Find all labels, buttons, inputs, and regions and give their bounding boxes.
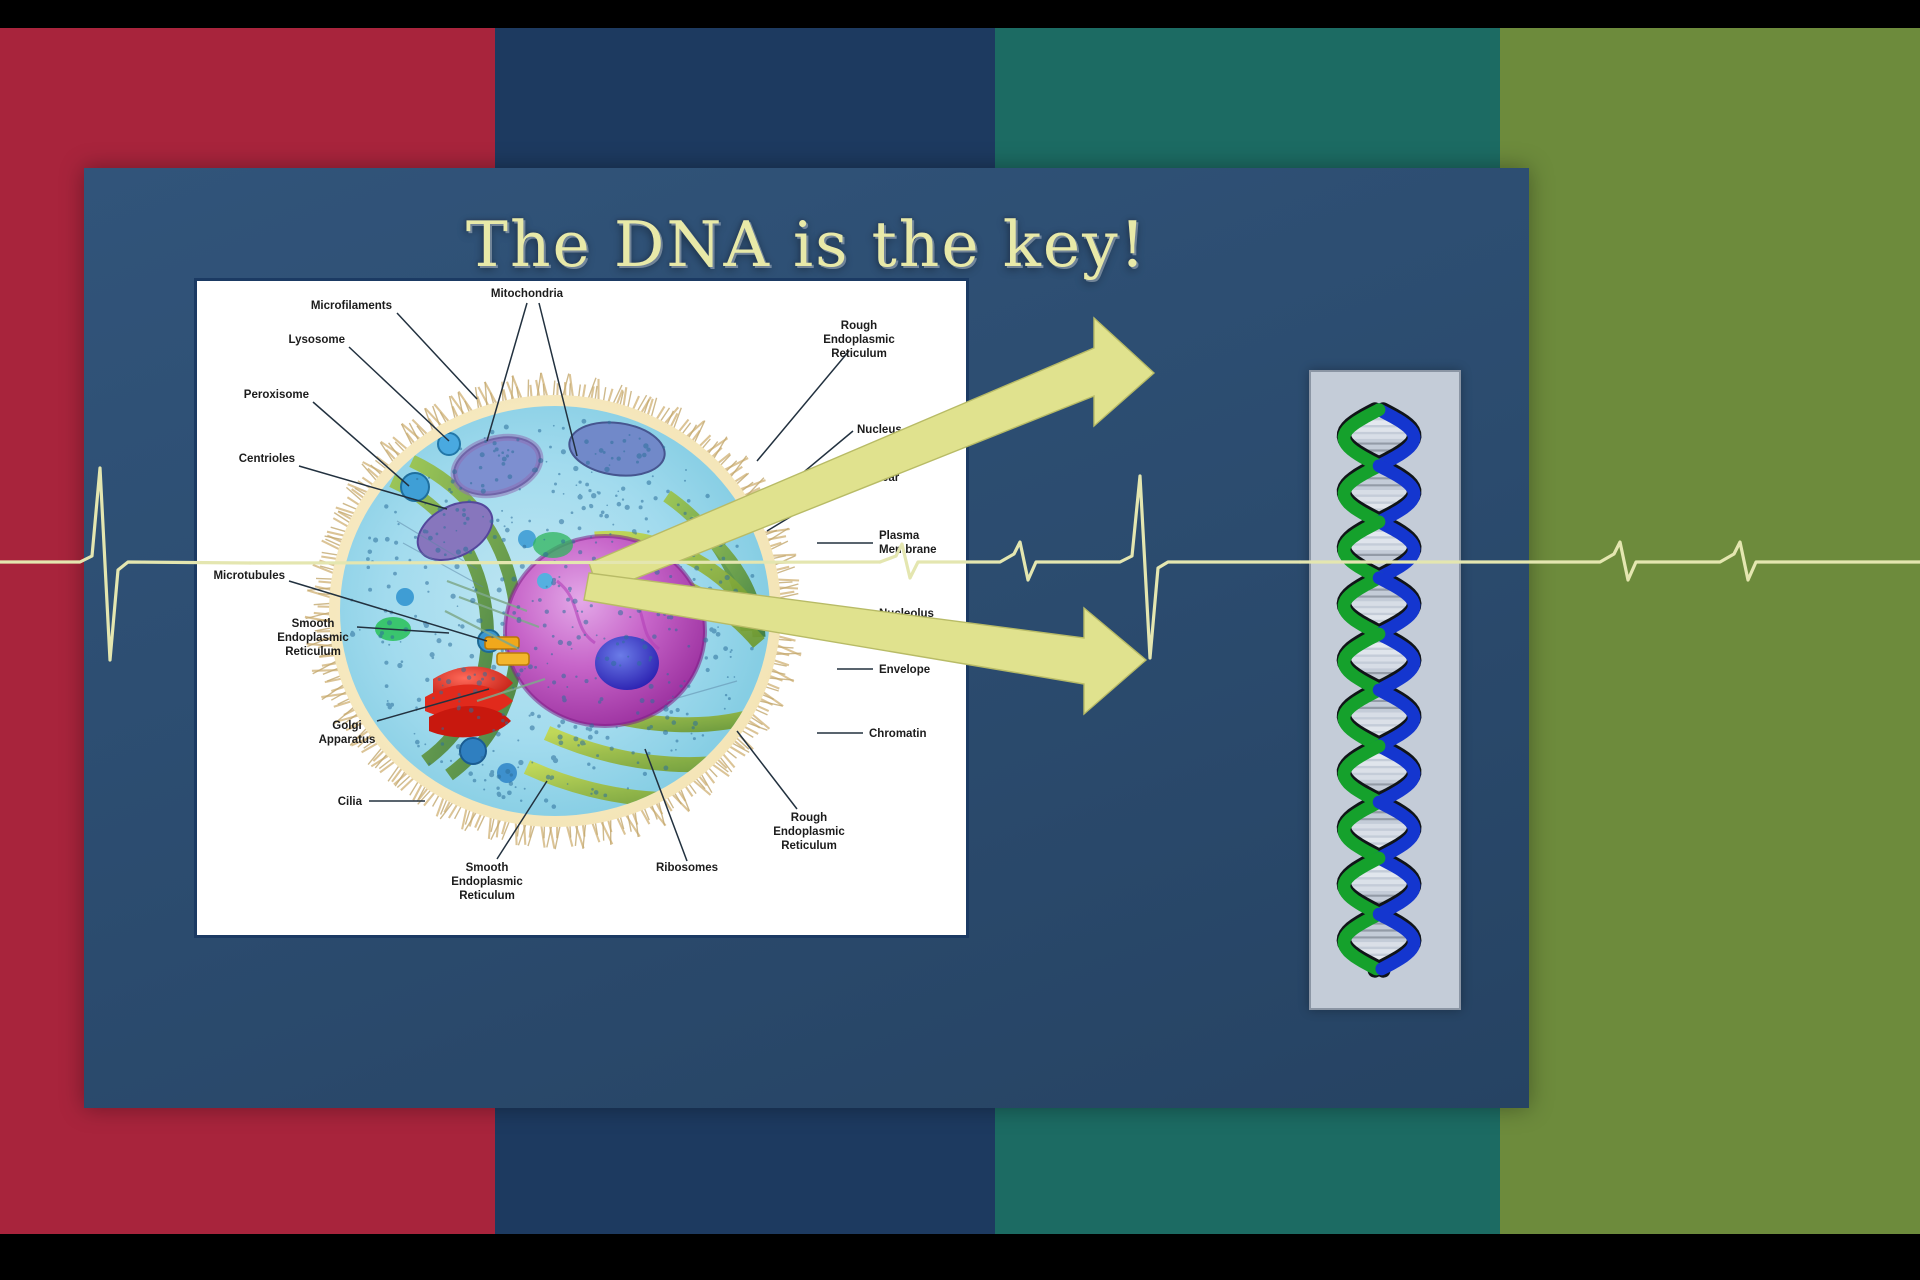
cell-label-smooth-er-left-3: Reticulum (285, 646, 341, 658)
cell-label-smooth-er-b-1: Smooth (466, 862, 509, 874)
cell-label-microfilaments: Microfilaments (311, 300, 392, 312)
cell-illustration: MicrofilamentsMitochondriaLysosomePeroxi… (197, 281, 969, 938)
dna-double-helix (1311, 372, 1459, 1008)
cell-label-nucleus: Nucleus (857, 424, 902, 436)
cell-label-plasma-2: Membrane (879, 544, 937, 556)
cell-label-centrioles: Centrioles (239, 453, 295, 465)
cell-label-rough-er-b-3: Reticulum (781, 840, 837, 852)
dna-panel (1309, 370, 1461, 1010)
slide-stage: The DNA is the key! (0, 0, 1920, 1280)
cell-label-rough-er-t-3: Reticulum (831, 348, 887, 360)
nucleolus (595, 636, 659, 690)
cell-label-golgi-1: Golgi (332, 720, 361, 732)
cell-label-cilia: Cilia (338, 796, 363, 808)
slide-panel: The DNA is the key! (84, 168, 1529, 1108)
page-title: The DNA is the key! (84, 208, 1529, 281)
letterbox-bottom (0, 1234, 1920, 1280)
cell-label-ribosomes: Ribosomes (656, 862, 718, 874)
cell-label-plasma-1: Plasma (879, 530, 920, 542)
band-olive (1500, 28, 1920, 1234)
cell-label-golgi-2: Apparatus (319, 734, 376, 746)
cell-label-nuclear: Nuclear (857, 472, 900, 484)
cell-label-smooth-er-b-2: Endoplasmic (451, 876, 523, 888)
cell-label-microtubules: Microtubules (213, 570, 285, 582)
cell-label-smooth-er-left-2: Endoplasmic (277, 632, 349, 644)
letterbox-top (0, 0, 1920, 28)
cell-label-nucleolus: Nucleolus (879, 608, 934, 620)
cell-label-smooth-er-b-3: Reticulum (459, 890, 515, 902)
cell-label-peroxisome: Peroxisome (244, 389, 309, 401)
cell-label-mitochondria: Mitochondria (491, 288, 564, 300)
cell-label-rough-er-b-1: Rough (791, 812, 827, 824)
cell-label-smooth-er-left-1: Smooth (292, 618, 335, 630)
cell-label-lysosome: Lysosome (289, 334, 345, 346)
cell-label-envelope: Envelope (879, 664, 930, 676)
cell-label-rough-er-t-2: Endoplasmic (823, 334, 895, 346)
cell-label-rough-er-b-2: Endoplasmic (773, 826, 845, 838)
cell-label-chromatin: Chromatin (869, 728, 927, 740)
animal-cell-diagram: MicrofilamentsMitochondriaLysosomePeroxi… (194, 278, 969, 938)
cell-label-rough-er-t-1: Rough (841, 320, 877, 332)
